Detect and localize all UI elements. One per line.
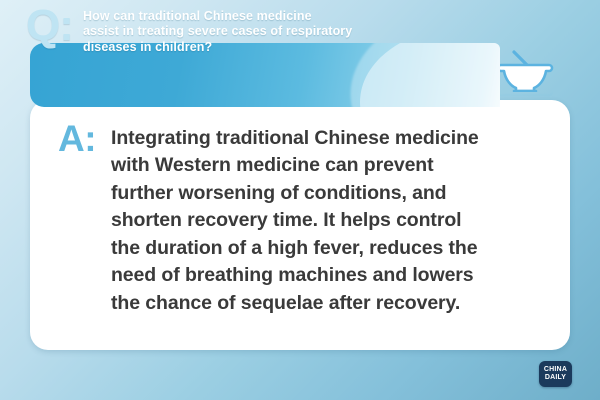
mortar-and-pestle-icon bbox=[492, 48, 558, 110]
answer-line: need of breathing machines and lowers bbox=[111, 262, 541, 289]
question-line: How can traditional Chinese medicine bbox=[83, 9, 443, 24]
question-text: How can traditional Chinese medicine ass… bbox=[83, 9, 443, 55]
question-marker: Q: bbox=[26, 4, 73, 48]
question-line: diseases in children? bbox=[83, 40, 443, 55]
question-line: assist in treating severe cases of respi… bbox=[83, 24, 443, 39]
logo-line-one: CHINA bbox=[544, 366, 567, 374]
mortar-icon-reflection bbox=[492, 88, 558, 112]
answer-line: Integrating traditional Chinese medicine bbox=[111, 125, 541, 152]
answer-text: Integrating traditional Chinese medicine… bbox=[111, 125, 541, 317]
answer-marker: A: bbox=[58, 120, 96, 157]
china-daily-logo[interactable]: CHINA DAILY bbox=[539, 361, 572, 387]
answer-line: shorten recovery time. It helps control bbox=[111, 207, 541, 234]
logo-line-two: DAILY bbox=[545, 374, 566, 382]
answer-line: the duration of a high fever, reduces th… bbox=[111, 235, 541, 262]
infographic-card: Q: How can traditional Chinese medicine … bbox=[0, 0, 600, 400]
answer-line: with Western medicine can prevent bbox=[111, 152, 541, 179]
answer-line: further worsening of conditions, and bbox=[111, 180, 541, 207]
answer-line: the chance of sequelae after recovery. bbox=[111, 290, 541, 317]
